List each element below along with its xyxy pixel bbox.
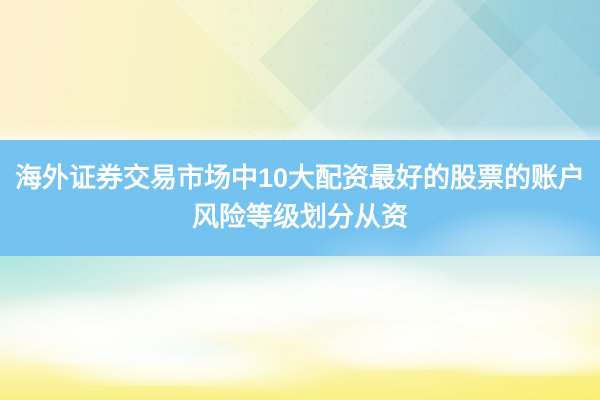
- halftone-texture: [230, 0, 600, 140]
- title-line-1: 海外证券交易市场中10大配资最好的股票的账户: [15, 160, 585, 197]
- top-band-fade: [0, 124, 600, 140]
- title-line-2: 风险等级划分从资: [192, 199, 408, 236]
- top-geometric-band: [0, 0, 600, 140]
- promo-banner: 海外证券交易市场中10大配资最好的股票的账户 风险等级划分从资: [0, 0, 600, 400]
- banner-title: 海外证券交易市场中10大配资最好的股票的账户 风险等级划分从资: [0, 140, 600, 256]
- sky-gradient-area: [0, 256, 600, 400]
- sky-color-overlay: [0, 256, 600, 400]
- title-band: 海外证券交易市场中10大配资最好的股票的账户 风险等级划分从资: [0, 140, 600, 256]
